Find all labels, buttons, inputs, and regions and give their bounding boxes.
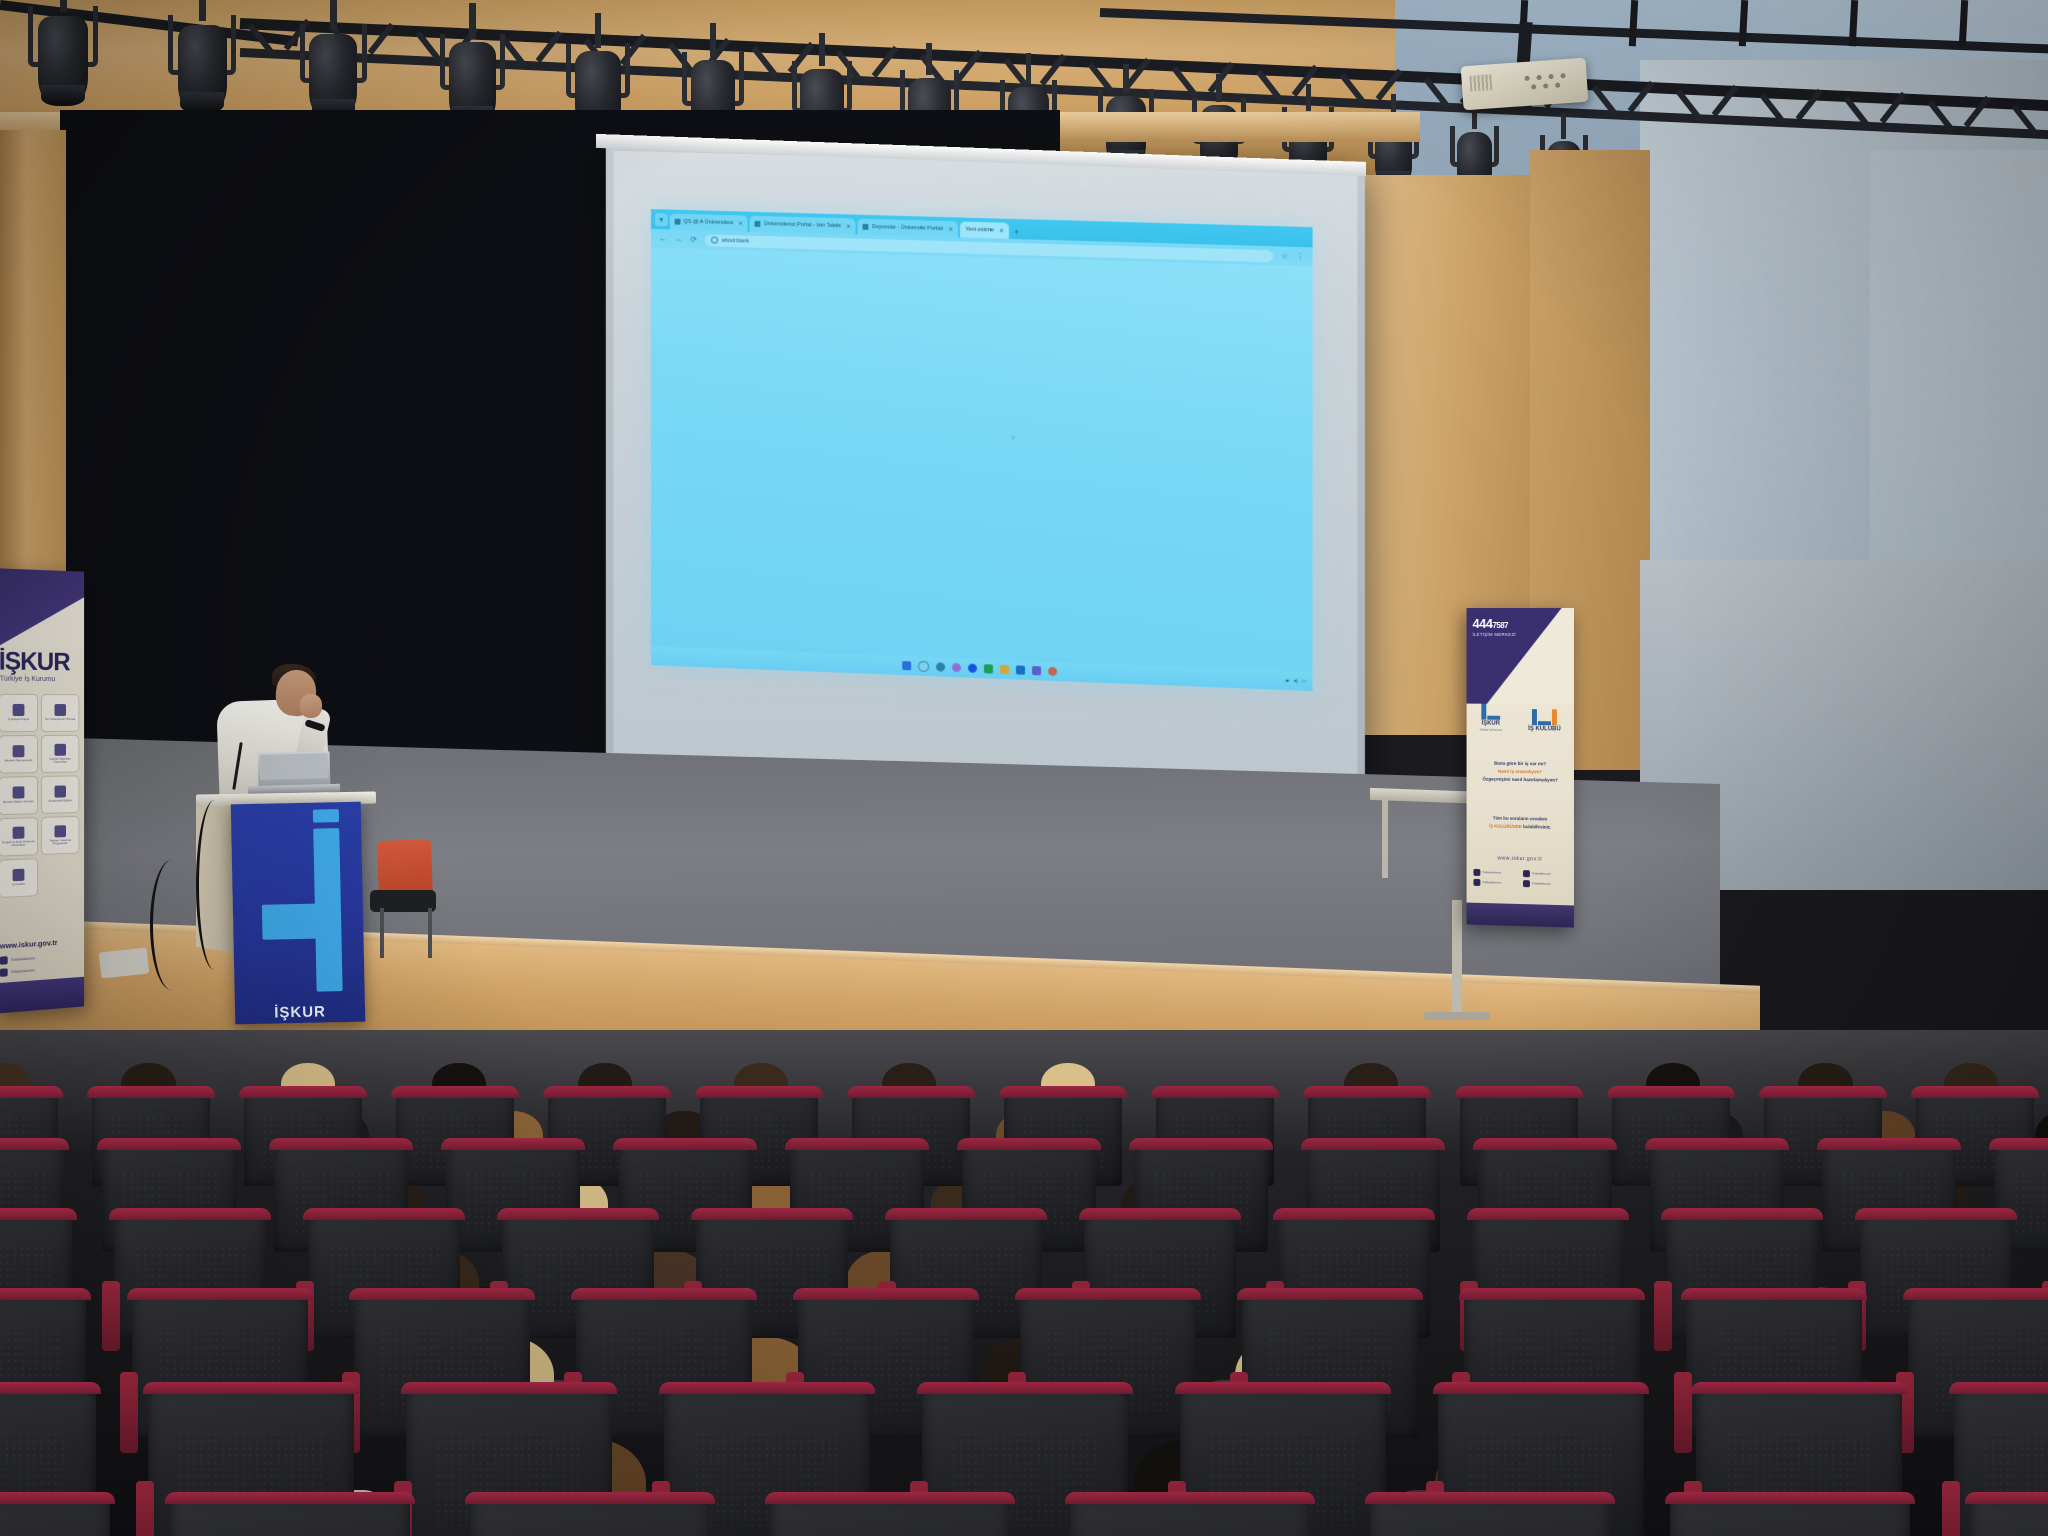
seat-armrest	[1674, 1372, 1692, 1452]
favicon-icon	[675, 219, 681, 225]
arrow-right-icon[interactable]: →	[675, 234, 683, 243]
window-menu-icon[interactable]: ▾	[655, 213, 668, 226]
service-icon	[13, 869, 25, 882]
service-icon	[13, 787, 25, 799]
audience-area	[0, 1030, 2048, 1536]
iskur-logo: İŞKUR Türkiye İş Kurumu	[1480, 704, 1502, 732]
tab-label: QS @ A Üniversitesi	[683, 219, 733, 226]
banner-right-logos: İŞKUR Türkiye İş Kurumu İŞ KULÜBÜ	[1467, 704, 1574, 733]
service-icon	[54, 825, 66, 837]
auditorium-seat	[470, 1496, 710, 1536]
phone-main: 444	[1472, 616, 1492, 631]
projector-vent	[1469, 74, 1492, 91]
projector-controls	[1522, 71, 1575, 93]
teams-icon[interactable]	[1032, 666, 1041, 675]
search-icon[interactable]	[918, 661, 929, 672]
banner-left-subtitle: Türkiye İş Kurumu	[0, 676, 55, 684]
tab-close-icon[interactable]: ✕	[999, 227, 1004, 234]
service-label: Engelli ve Eski Hükümlü Destekleri	[0, 840, 37, 848]
excel-icon[interactable]	[983, 664, 992, 673]
widgets-icon[interactable]	[952, 663, 961, 672]
service-icon	[13, 745, 25, 757]
auditorium-seat	[1670, 1496, 1910, 1536]
service-cell: Mesleki Eğitim Kursları	[0, 776, 38, 815]
service-icon	[54, 743, 66, 755]
banner-right-stand	[1452, 900, 1462, 1020]
favicon-icon	[755, 221, 761, 227]
cable	[196, 800, 233, 970]
is-kulubu-logo: İŞ KULÜBÜ	[1528, 709, 1561, 732]
volume-icon[interactable]: ◂)	[1293, 678, 1297, 684]
service-cell: İş Arayan Kaydı	[0, 694, 38, 732]
stage-chair-leg	[380, 908, 384, 958]
start-icon[interactable]	[902, 661, 911, 670]
banner-left-service-grid: İş Arayan Kaydıİşe Yerleştirme HizmetiMe…	[0, 694, 80, 898]
projected-desktop: ▾ QS @ A Üniversitesi ✕ Üniversiteniz Po…	[651, 209, 1313, 691]
browser-window[interactable]: ▾ QS @ A Üniversitesi ✕ Üniversiteniz Po…	[651, 209, 1313, 691]
instagram-icon	[0, 968, 8, 977]
system-tray[interactable]: ▰ ◂) ▭	[1285, 677, 1306, 684]
youtube-icon	[1473, 879, 1480, 886]
address-value: about:blank	[722, 237, 750, 244]
phone-suffix: 7587	[1492, 621, 1508, 630]
banner-right-answer: Tüm bu soruların cevabını İŞ KULÜBÜNDE b…	[1467, 812, 1574, 833]
iskur-logo-bar	[261, 903, 340, 940]
service-label: Girişimcilik Eğitimi	[47, 799, 73, 803]
facebook-icon	[0, 956, 8, 965]
service-icon	[54, 786, 66, 798]
auditorium-seat	[770, 1496, 1010, 1536]
service-label: İşe Yerleştirme Hizmeti	[44, 718, 76, 721]
banner-iskur-services: İŞKUR Türkiye İş Kurumu İş Arayan Kaydıİ…	[0, 568, 84, 1014]
service-label: Mesleki Danışmanlık	[3, 759, 33, 763]
service-label: Toplum Yararına Programlar	[42, 838, 78, 846]
social-handle: Turkiyeiskurumu	[1532, 882, 1551, 885]
banner-right-foot	[1424, 1012, 1490, 1020]
service-icon	[54, 704, 66, 716]
tab-label: Üniversiteniz Portal - İzin Talebi	[764, 221, 841, 229]
spotlight-icon	[28, 6, 98, 102]
new-tab-button[interactable]: +	[1014, 227, 1019, 237]
banner-right-phone-sub: İLETİŞİM MERKEZİ	[1472, 632, 1515, 637]
auditorium-seat	[1370, 1496, 1610, 1536]
social-handle: Turkiyeiskurumu	[1482, 881, 1501, 884]
service-cell: İşe Yerleştirme Hizmeti	[41, 694, 79, 732]
instagram-icon	[1523, 870, 1530, 877]
seat-armrest	[1942, 1481, 1960, 1536]
auditorium-seat	[1070, 1496, 1310, 1536]
social-handle: Turkiyeiskurumu	[1532, 872, 1551, 875]
seat-armrest	[120, 1372, 138, 1452]
spotlight-icon	[168, 15, 236, 109]
answer-line-1: Tüm bu soruların cevabını	[1467, 815, 1574, 822]
podium-banner-text: İŞKUR	[235, 1003, 365, 1023]
is-kulubu-logo-label: İŞ KULÜBÜ	[1528, 726, 1561, 732]
spotlight-icon	[300, 24, 367, 115]
side-table-leg	[1382, 800, 1388, 878]
tab-close-icon[interactable]: ✕	[846, 223, 851, 230]
arrow-left-icon[interactable]: ←	[659, 234, 667, 243]
auditorium-scene: ▾ QS @ A Üniversitesi ✕ Üniversiteniz Po…	[0, 0, 2048, 1536]
chrome-icon[interactable]	[968, 664, 977, 673]
service-label: İş Arayan Kaydı	[7, 718, 30, 721]
facebook-icon	[1473, 869, 1480, 876]
iskur-logo-mark	[1481, 704, 1500, 720]
settings-icon[interactable]	[1048, 667, 1057, 676]
tab-close-icon[interactable]: ✕	[738, 220, 743, 227]
answer-highlight: İŞ KULÜBÜNDE	[1489, 823, 1522, 829]
favicon-icon	[863, 224, 869, 230]
star-icon[interactable]: ☆	[1281, 251, 1288, 260]
service-icon	[13, 826, 25, 838]
service-cell: Mesleki Danışmanlık	[0, 735, 38, 774]
twitter-icon	[1523, 880, 1530, 887]
service-cell: Girişimcilik Eğitimi	[41, 775, 79, 814]
banner-left-title: İŞKUR	[0, 647, 84, 677]
tab-label: Duyurular - Üniversite Portalı	[872, 224, 943, 232]
seat-armrest	[102, 1281, 120, 1350]
podium-banner: İŞKUR	[231, 802, 366, 1025]
powerpoint-icon[interactable]	[1016, 665, 1025, 674]
service-label: İşsizlik Sigortası Ödemeleri	[42, 757, 78, 764]
kebab-menu-icon[interactable]: ⋮	[1296, 252, 1304, 261]
answer-line-2: bulabilirsiniz.	[1523, 824, 1551, 830]
projector-icon	[1461, 58, 1589, 111]
banner-left-social: Turkiyeiskurumu Turkiyeiskurumu	[0, 954, 35, 977]
question-1: Bana göre bir iş var mı?	[1467, 760, 1574, 766]
banner-right-questions: Bana göre bir iş var mı? Nasıl iş aramal…	[1467, 757, 1574, 786]
seat-armrest	[136, 1481, 154, 1536]
service-icon	[13, 704, 25, 716]
copilot-icon[interactable]	[936, 662, 945, 671]
network-icon[interactable]: ▰	[1285, 677, 1289, 683]
browser-tab-active[interactable]: Yeni sekme ✕	[960, 221, 1009, 238]
stage-chair-leg	[428, 908, 432, 958]
service-cell: Toplum Yararına Programlar	[41, 816, 79, 855]
page-viewport[interactable]	[651, 248, 1313, 672]
banner-is-kulubu: 4447587 İLETİŞİM MERKEZİ İŞKUR Türkiye İ…	[1467, 608, 1574, 928]
banner-right-bottom-band	[1467, 903, 1574, 928]
social-handle: Turkiyeiskurumu	[1482, 871, 1501, 874]
mouse-cursor-icon	[1012, 435, 1015, 440]
service-cell: Engelli ve Eski Hükümlü Destekleri	[0, 817, 38, 857]
social-handle: Turkiyeiskurumu	[11, 956, 35, 962]
banner-right-social: Turkiyeiskurumu Turkiyeiskurumu Turkiyei…	[1467, 869, 1574, 889]
file-explorer-icon[interactable]	[999, 665, 1008, 674]
auditorium-seat	[0, 1496, 110, 1536]
service-label: Mesleki Eğitim Kursları	[2, 800, 35, 804]
service-label: İş Kulübü	[11, 883, 26, 887]
battery-icon[interactable]: ▭	[1302, 678, 1307, 684]
seat-armrest	[1654, 1281, 1672, 1350]
iskur-logo-label: İŞKUR	[1482, 721, 1500, 727]
cable	[150, 860, 193, 990]
auditorium-seat	[1970, 1496, 2048, 1536]
banner-left-url: www.iskur.gov.tr	[0, 938, 58, 951]
social-handle: Turkiyeiskurumu	[11, 968, 35, 974]
reload-icon[interactable]: ⟳	[690, 235, 697, 244]
stage-monitor	[99, 948, 149, 979]
speaker-hand	[300, 694, 322, 718]
laptop-icon	[258, 751, 331, 789]
service-cell: İş Kulübü	[0, 858, 38, 898]
iskur-logo-dot	[313, 809, 339, 823]
banner-left-top-band	[0, 568, 84, 649]
question-3: Özgeçmişimi nasıl hazırlamalıyım?	[1467, 776, 1574, 783]
iskur-logo-sublabel: Türkiye İş Kurumu	[1480, 728, 1502, 732]
tab-close-icon[interactable]: ✕	[948, 226, 953, 233]
service-cell: İşsizlik Sigortası Ödemeleri	[41, 735, 79, 773]
info-circle-icon	[711, 236, 718, 243]
tab-label: Yeni sekme	[965, 227, 994, 234]
question-2: Nasıl iş aramalıyım?	[1467, 768, 1574, 775]
auditorium-seat	[170, 1496, 410, 1536]
is-kulubu-logo-mark	[1532, 709, 1557, 725]
banner-right-url: www.iskur.gov.tr	[1467, 855, 1574, 863]
banner-right-phone: 4447587	[1472, 616, 1508, 631]
